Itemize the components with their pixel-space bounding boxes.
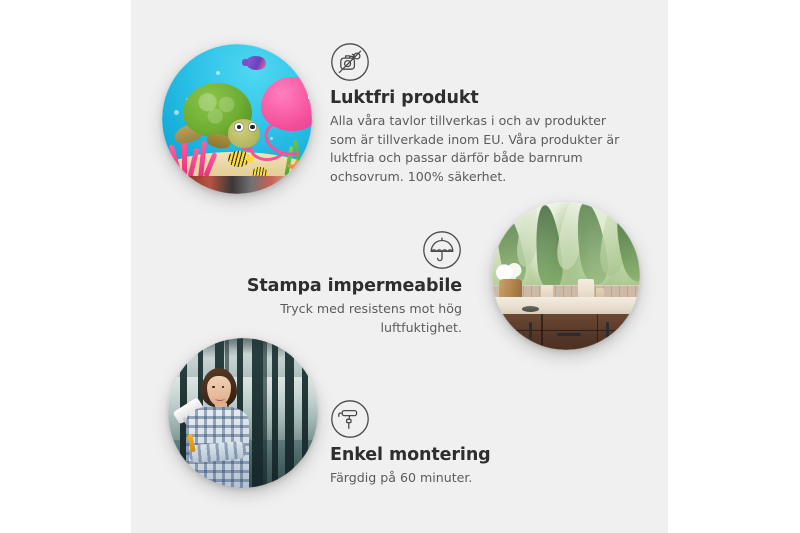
vanity-seam: [597, 314, 599, 350]
feature-title: Luktfri produkt: [330, 88, 622, 108]
feature-description: Alla våra tavlor tillverkas i och av pro…: [330, 112, 622, 186]
drawer-handle: [557, 333, 582, 336]
promo-page: Luktfri produkt Alla våra tavlor tillver…: [0, 0, 800, 533]
photo-inner: [492, 202, 640, 350]
feature-title: Enkel montering: [330, 445, 592, 465]
bottom-photo-strip: [189, 176, 303, 194]
photo-inner: [168, 338, 318, 488]
woman-paint-roller-forest-photo: [168, 338, 318, 488]
cabinet-handle: [606, 322, 609, 340]
octopus-eye: [307, 94, 312, 99]
vanity-seam: [495, 330, 640, 332]
turtle-eye: [248, 122, 258, 132]
wooden-vanity: [495, 314, 640, 350]
feature-description: Tryck med resistens mot hög luftfuktighe…: [200, 300, 462, 337]
underwater-cartoon-photo: [162, 44, 312, 194]
feature-title: Stampa impermeabile: [200, 276, 462, 296]
soap-dish: [522, 306, 540, 312]
purple-fish: [246, 56, 266, 70]
cabinet-handle: [529, 322, 532, 340]
yellow-fish: [228, 151, 249, 168]
woman-eye: [212, 386, 214, 388]
feature-description: Färgdig på 60 minuter.: [330, 469, 592, 488]
paint-roller-icon: [330, 399, 370, 439]
bubble: [216, 71, 220, 75]
no-fragrance-icon: [330, 42, 370, 82]
bathroom-botanical-photo: [492, 202, 640, 350]
photo-inner: [162, 44, 312, 194]
feature-waterproof-print: Stampa impermeabile Tryck med resistens …: [200, 230, 462, 337]
forest-canopy: [168, 338, 318, 371]
vanity-seam: [541, 314, 543, 350]
feature-odour-free: Luktfri produkt Alla våra tavlor tillver…: [330, 42, 622, 186]
feature-easy-install: Enkel montering Färgdig på 60 minuter.: [330, 399, 592, 488]
turtle-eye: [234, 122, 244, 132]
bubble: [174, 110, 179, 115]
countertop: [492, 297, 640, 316]
umbrella-icon: [422, 230, 462, 270]
